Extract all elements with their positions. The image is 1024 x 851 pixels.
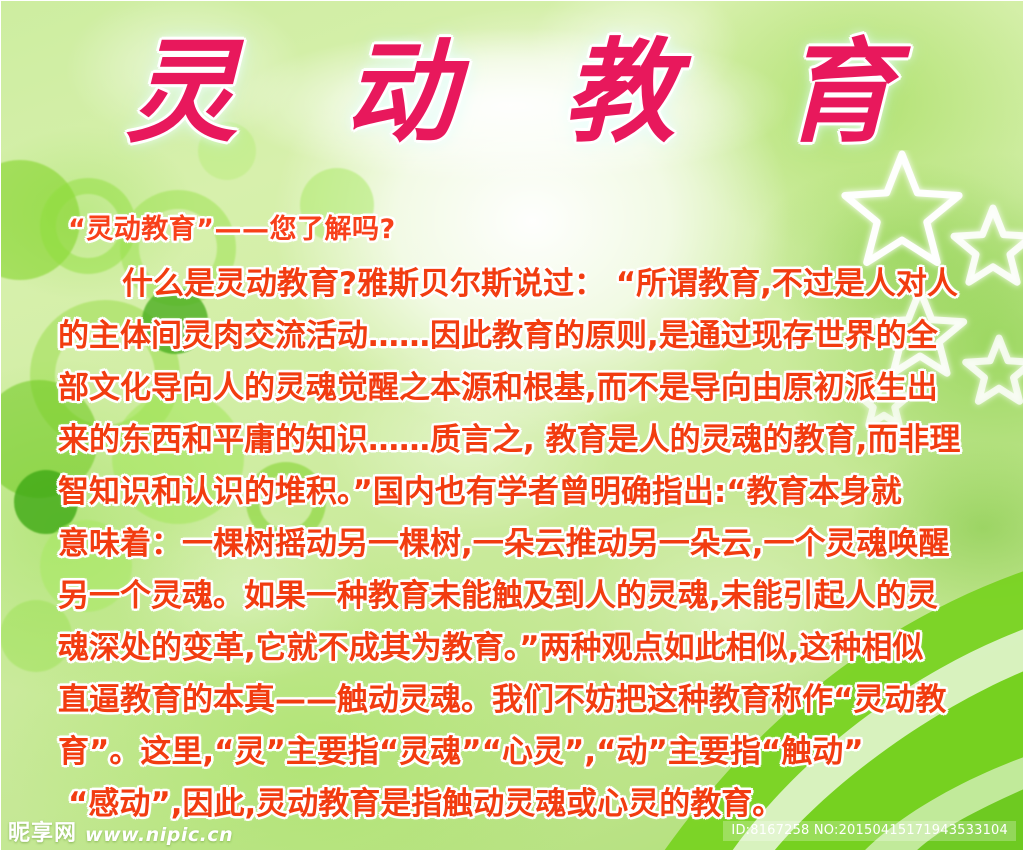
body-line: 育”。这里,“灵”主要指“灵魂”“心灵”,“动”主要指“触动”	[58, 726, 988, 778]
body-line: 什么是灵动教育?雅斯贝尔斯说过： “所谓教育,不过是人对人	[58, 258, 988, 310]
poster-canvas: 灵 动 教 育 “灵动教育”——您了解吗? 什么是灵动教育?雅斯贝尔斯说过： “…	[0, 0, 1024, 851]
body-line: 直逼教育的本真——触动灵魂。我们不妨把这种教育称作“灵动教	[58, 674, 988, 726]
body-line: 的主体间灵肉交流活动……因此教育的原则,是通过现存世界的全	[58, 310, 988, 362]
subtitle-heading: “灵动教育”——您了解吗?	[68, 207, 396, 246]
body-line: 来的东西和平庸的知识……质言之, 教育是人的灵魂的教育,而非理	[58, 414, 988, 466]
body-text-block: 什么是灵动教育?雅斯贝尔斯说过： “所谓教育,不过是人对人的主体间灵肉交流活动……	[58, 258, 988, 830]
body-line: 魂深处的变革,它就不成其为教育。”两种观点如此相似,这种相似	[58, 622, 988, 674]
image-id-badge: ID:8167258 NO:20150415171943533104	[723, 821, 1016, 841]
body-line: 意味着：一棵树摇动另一棵树,一朵云推动另一朵云,一个灵魂唤醒	[58, 518, 988, 570]
body-line: 部文化导向人的灵魂觉醒之本源和根基,而不是导向由原初派生出	[58, 362, 988, 414]
body-line: 智知识和认识的堆积。”国内也有学者曾明确指出:“教育本身就	[58, 466, 988, 518]
body-line: 另一个灵魂。如果一种教育未能触及到人的灵魂,未能引起人的灵	[58, 570, 988, 622]
page-title: 灵 动 教 育	[0, 34, 1024, 152]
star-icon	[845, 154, 959, 263]
